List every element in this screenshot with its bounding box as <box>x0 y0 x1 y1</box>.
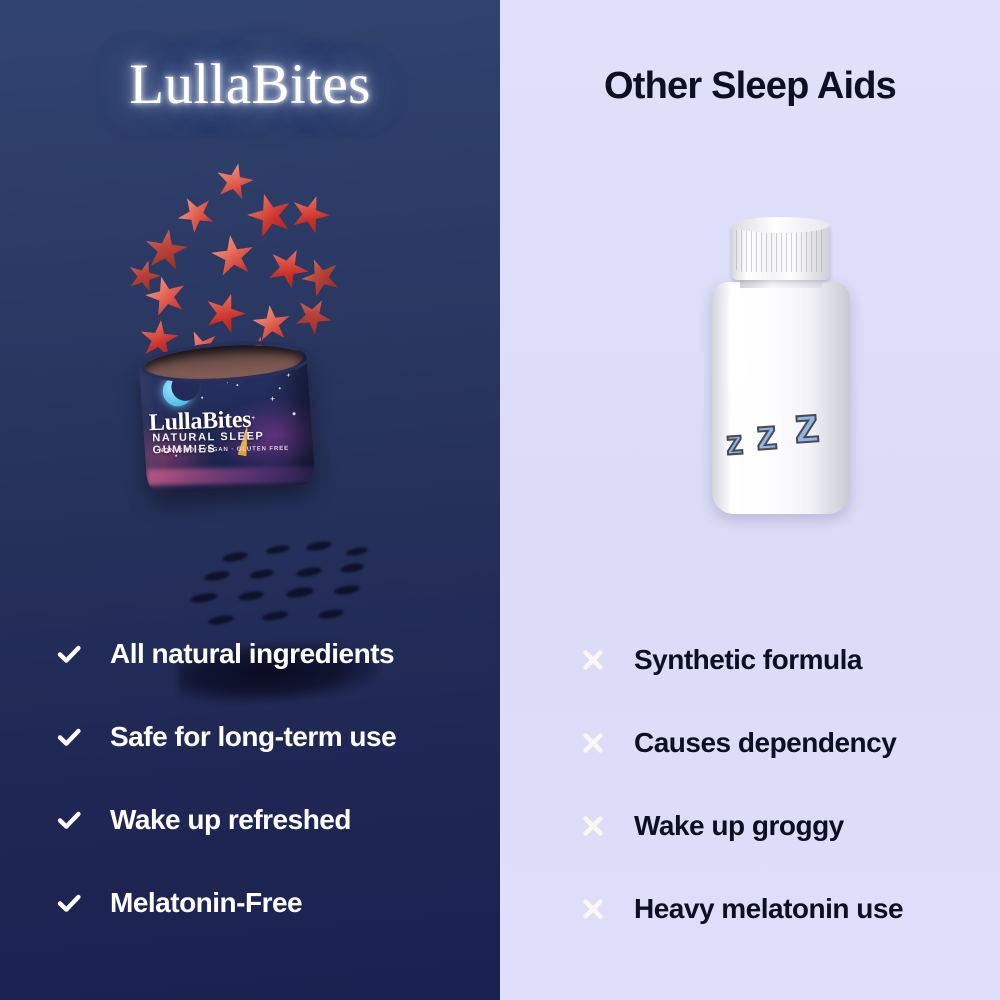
check-badge-icon <box>48 633 90 675</box>
gummy-star-icon <box>200 288 250 338</box>
list-item: All natural ingredients <box>48 612 500 695</box>
drawbacks-list: Synthetic formula Causes dependency Wake… <box>500 618 1000 950</box>
check-badge-icon <box>48 882 90 924</box>
benefit-label: Wake up refreshed <box>90 804 351 836</box>
drawback-label: Causes dependency <box>614 727 896 759</box>
star-dot-icon <box>236 384 238 386</box>
drawback-label: Heavy melatonin use <box>614 893 903 925</box>
gummy-star-icon <box>261 241 314 294</box>
pill-bottle-illustration: z z z <box>706 222 856 514</box>
list-item: Causes dependency <box>572 701 1000 784</box>
gummy-star-icon <box>213 160 257 204</box>
zzz-letter: z <box>725 425 744 460</box>
x-badge-icon <box>572 639 614 681</box>
gummy-star-icon <box>209 232 256 279</box>
gummy-star-icon <box>286 190 335 239</box>
gummy-star-icon <box>288 291 337 340</box>
gummy-star-icon <box>142 226 189 273</box>
gummy-shadow-fleck <box>190 592 219 605</box>
gummy-star-icon <box>251 303 292 344</box>
gummy-shadow-fleck <box>285 586 314 600</box>
zzz-letter: z <box>792 399 820 451</box>
gummy-star-icon <box>171 189 220 238</box>
star-dot-icon <box>279 387 281 389</box>
x-badge-icon <box>572 888 614 930</box>
cap-top-surface <box>732 217 830 233</box>
gummy-jar-illustration: LullaBites NATURAL SLEEP GUMMIES NON-GMO… <box>0 150 500 580</box>
list-item: Safe for long-term use <box>48 695 500 778</box>
benefit-label: Melatonin-Free <box>90 887 302 919</box>
page-title-lullabites: LullaBites <box>0 52 500 117</box>
star-dot-icon <box>292 412 295 415</box>
sleeping-zzz-icon: z z z <box>726 400 838 462</box>
lullabites-jar: LullaBites NATURAL SLEEP GUMMIES NON-GMO… <box>138 349 315 495</box>
panel-other-sleep-aids: Other Sleep Aids z z z <box>500 0 1000 1000</box>
panel-lullabites: LullaBites <box>0 0 500 1000</box>
x-badge-icon <box>572 722 614 764</box>
drawback-label: Synthetic formula <box>614 644 862 676</box>
star-dot-icon <box>201 397 203 399</box>
list-item: Synthetic formula <box>572 618 1000 701</box>
benefit-label: All natural ingredients <box>90 638 394 670</box>
gummy-star-icon <box>243 188 297 242</box>
x-badge-icon <box>572 805 614 847</box>
bottle-body: z z z <box>712 282 850 514</box>
cap-ribs <box>736 228 826 272</box>
list-item: Wake up refreshed <box>48 778 500 861</box>
gummy-shadow-fleck <box>334 584 361 596</box>
benefits-list: All natural ingredients Safe for long-te… <box>0 612 500 944</box>
comparison-infographic: LullaBites <box>0 0 1000 1000</box>
gummy-shadow-fleck <box>238 590 265 602</box>
list-item: Heavy melatonin use <box>572 867 1000 950</box>
zzz-letter: z <box>755 413 779 456</box>
check-badge-icon <box>48 799 90 841</box>
gummy-star-icon <box>296 252 345 301</box>
jar-label-band <box>147 466 315 485</box>
sparkle-icon <box>286 372 291 377</box>
sparkle-icon <box>269 396 275 402</box>
benefit-label: Safe for long-term use <box>90 721 396 753</box>
list-item: Melatonin-Free <box>48 861 500 944</box>
drawback-label: Wake up groggy <box>614 810 844 842</box>
page-title-other-sleep-aids: Other Sleep Aids <box>500 65 1000 108</box>
check-badge-icon <box>48 716 90 758</box>
list-item: Wake up groggy <box>572 784 1000 867</box>
